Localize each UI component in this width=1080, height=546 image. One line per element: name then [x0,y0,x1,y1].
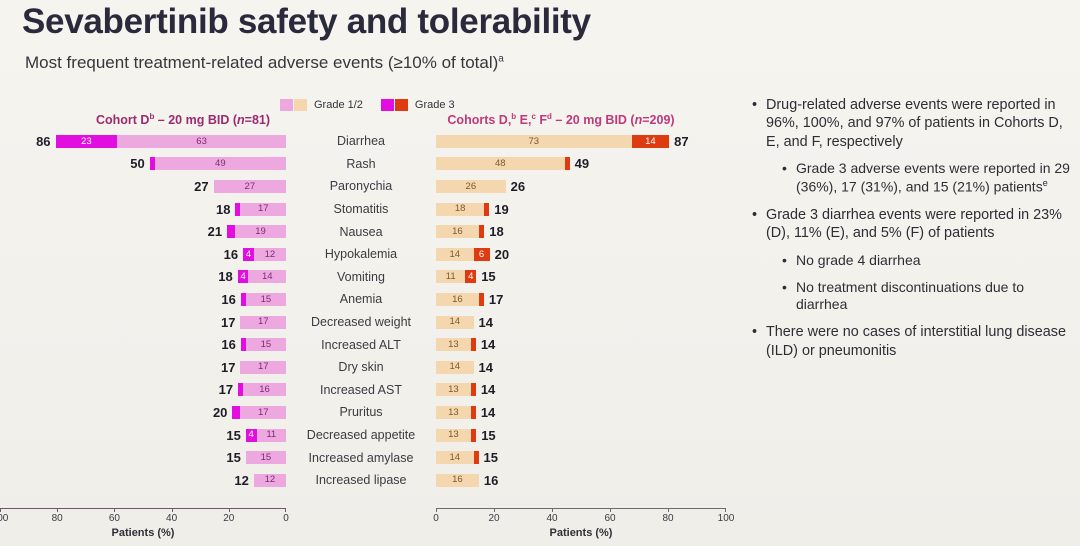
chart-rows: 862363Diarrhea7314875049Rash48492727Paro… [0,130,740,492]
right-row-bar: 16 [436,293,484,306]
chart-row: 1615Increased ALT1314 [0,333,740,356]
left-bar-grade12: 14 [248,270,286,283]
right-bar-grade12-value: 16 [452,295,463,305]
adverse-event-label: Decreased appetite [286,428,436,442]
left-bar-grade12: 17 [240,203,286,216]
right-bar-grade12-value: 73 [529,137,540,147]
left-row-bar: 49 [150,157,286,170]
left-bar-grade12-value: 27 [245,182,256,192]
right-panel-header-rest: – 20 mg BID ( [552,113,635,127]
chart-row: 5049Rash4849 [0,153,740,176]
right-row-bar: 146 [436,248,490,261]
right-bar-grade3-value: 14 [645,137,656,147]
right-row-total: 18 [489,224,503,239]
right-row: 1617 [436,288,726,311]
adverse-event-label: Hypokalemia [286,247,436,261]
right-row: 4849 [436,153,726,176]
left-row: 1717 [0,356,286,379]
axis-tick-label: 20 [488,513,499,524]
right-axis: Patients (%) 020406080100 [436,508,726,542]
left-row-total: 18 [218,269,232,284]
right-bar-grade12: 13 [436,383,471,396]
left-row-total: 17 [221,315,235,330]
left-bar-grade12-value: 14 [262,272,273,282]
chart-row: 1717Decreased weight1414 [0,311,740,334]
right-bar-grade12: 16 [436,474,479,487]
left-bar-grade12-value: 17 [258,317,269,327]
left-row-total: 27 [194,179,208,194]
right-row-bar: 114 [436,270,476,283]
note-text: Drug-related adverse events were reporte… [766,96,1072,151]
left-bar-grade12: 12 [254,474,286,487]
left-row-bar: 17 [240,361,286,374]
right-row-bar: 14 [436,316,474,329]
page-subtitle: Most frequent treatment-related adverse … [25,53,504,73]
bullet-dot-icon: • [752,323,766,360]
right-row: 1414 [436,311,726,334]
right-row: 11415 [436,266,726,289]
chart-row: 1716Increased AST1314 [0,379,740,402]
subtitle-footnote-marker: a [498,53,504,64]
left-bar-grade12-value: 12 [265,250,276,260]
left-panel-header-n: n [237,113,245,127]
right-row: 731487 [436,130,726,153]
right-row-total: 49 [575,156,589,171]
right-bar-grade12-value: 13 [448,385,459,395]
left-bar-grade12-value: 15 [261,340,272,350]
left-bar-grade12-value: 16 [259,385,270,395]
right-bar-grade12: 73 [436,135,632,148]
slide: Sevabertinib safety and tolerability Mos… [0,0,1080,546]
right-bar-grade12-value: 18 [455,204,466,214]
right-row-total: 17 [489,292,503,307]
left-row: 5049 [0,153,286,176]
axis-tick [172,508,173,512]
left-row: 1716 [0,379,286,402]
left-row: 1817 [0,198,286,221]
axis-tick-label: 0 [433,513,439,524]
left-row-bar: 2363 [56,135,286,148]
left-bar-grade3: 4 [243,248,254,261]
axis-tick [552,508,553,512]
notes-panel: •Drug-related adverse events were report… [752,96,1072,369]
right-row-bar: 13 [436,406,476,419]
right-bar-grade12-value: 14 [449,453,460,463]
right-panel-header-mid1: E, [516,113,531,127]
right-bar-grade3: 6 [474,248,490,261]
right-bar-grade3 [565,157,570,170]
note-text: No grade 4 diarrhea [796,252,1072,270]
right-bar-grade3 [471,406,476,419]
axis-tick-label: 20 [223,513,234,524]
left-axis: Patients (%) 100806040200 [0,508,286,542]
right-bar-grade3-value: 4 [468,272,473,282]
left-row-total: 16 [224,247,238,262]
right-row-total: 14 [479,360,493,375]
adverse-event-label: Nausea [286,225,436,239]
left-row: 16412 [0,243,286,266]
axis-tick [610,508,611,512]
left-bar-grade12: 63 [117,135,286,148]
chart-row: 1212Increased lipase1616 [0,469,740,492]
right-axis-line [436,508,726,509]
left-row: 1515 [0,446,286,469]
left-bar-grade12: 27 [214,180,286,193]
right-bar-grade12-value: 48 [495,159,506,169]
chart-row: 1717Dry skin1414 [0,356,740,379]
axis-tick-label: 60 [109,513,120,524]
right-bar-grade12-value: 13 [448,340,459,350]
axis-tick [229,508,230,512]
right-row-total: 14 [481,382,495,397]
right-row-bar: 14 [436,451,479,464]
right-row-total: 19 [494,202,508,217]
right-row-bar: 13 [436,338,476,351]
bullet-dot-icon: • [752,96,766,151]
left-row: 2017 [0,401,286,424]
right-bar-grade12: 13 [436,406,471,419]
right-panel-header-main: Cohorts D, [447,113,511,127]
left-bar-grade3: 23 [56,135,118,148]
left-bar-grade12: 19 [235,225,286,238]
left-bar-grade12-value: 17 [258,204,269,214]
left-bar-grade3 [232,406,240,419]
left-bar-grade12: 17 [240,316,286,329]
right-bar-grade3 [471,429,476,442]
left-row-bar: 17 [232,406,286,419]
right-panel-header-mid2: F [536,113,547,127]
right-row-bar: 26 [436,180,506,193]
axis-tick [494,508,495,512]
axis-tick-label: 40 [546,513,557,524]
left-bar-grade12-value: 12 [265,475,276,485]
right-bar-grade12: 48 [436,157,565,170]
left-axis-line [0,508,286,509]
chart-row: 2727Paronychia2626 [0,175,740,198]
right-bar-grade3: 14 [632,135,670,148]
axis-tick-label: 80 [52,513,63,524]
axis-tick [725,508,726,512]
adverse-event-label: Dry skin [286,360,436,374]
chart-row: 1615Anemia1617 [0,288,740,311]
right-bar-grade12-value: 14 [449,317,460,327]
right-row-bar: 13 [436,429,476,442]
axis-tick-label: 100 [0,513,8,524]
right-bar-grade12: 13 [436,429,471,442]
left-panel-header-n-rest: =81) [245,113,270,127]
bullet-dot-icon: • [782,160,796,196]
adverse-event-label: Increased amylase [286,451,436,465]
right-bar-grade12: 14 [436,248,474,261]
left-row-total: 17 [219,382,233,397]
right-row-total: 15 [484,450,498,465]
right-bar-grade3 [471,383,476,396]
axis-tick [436,508,437,512]
note-text: Grade 3 diarrhea events were reported in… [766,206,1072,243]
left-bar-grade12-value: 17 [258,408,269,418]
right-bar-grade12: 18 [436,203,484,216]
right-row: 1414 [436,356,726,379]
left-bar-grade3-value: 4 [249,430,254,440]
page-title: Sevabertinib safety and tolerability [22,2,591,42]
left-row-total: 86 [36,134,50,149]
right-bar-grade12-value: 11 [446,272,456,282]
left-bar-grade12-value: 17 [258,362,269,372]
left-bar-grade3: 4 [238,270,249,283]
left-row-total: 20 [213,405,227,420]
right-bar-grade12: 16 [436,293,479,306]
right-bar-grade12-value: 13 [448,430,459,440]
bullet-dot-icon: • [782,279,796,315]
left-bar-grade12: 15 [246,451,286,464]
left-bar-grade12: 12 [254,248,286,261]
right-bar-grade12: 13 [436,338,471,351]
axis-tick [285,508,286,512]
right-bar-grade12: 16 [436,225,479,238]
left-row: 1212 [0,469,286,492]
right-bar-grade12-value: 14 [449,250,460,260]
right-row-total: 14 [479,315,493,330]
note-bullet: •No grade 4 diarrhea [782,252,1072,270]
right-row: 1314 [436,379,726,402]
right-panel-header-n-rest: =209) [642,113,674,127]
left-row-bar: 27 [214,180,286,193]
right-bar-grade12: 11 [436,270,465,283]
adverse-event-label: Decreased weight [286,315,436,329]
right-axis-label: Patients (%) [436,527,726,539]
left-row-total: 16 [221,337,235,352]
left-bar-grade3-value: 4 [240,272,245,282]
chart-row: 2119Nausea1618 [0,220,740,243]
chart-area: Cohort Db – 20 mg BID (n=81) Cohorts D,b… [0,110,740,546]
axis-tick [114,508,115,512]
left-bar-grade12-value: 11 [266,430,276,440]
left-row-total: 15 [226,428,240,443]
right-bar-grade3-value: 6 [479,250,484,260]
right-bar-grade3: 4 [465,270,476,283]
left-row-total: 18 [216,202,230,217]
right-row-total: 26 [511,179,525,194]
axis-tick-label: 100 [718,513,735,524]
note-bullet: •Grade 3 diarrhea events were reported i… [752,206,1072,243]
left-bar-grade12-value: 19 [255,227,266,237]
note-text: No treatment discontinuations due to dia… [796,279,1072,315]
left-bar-grade12-value: 63 [196,137,207,147]
right-bar-grade3 [474,451,479,464]
left-axis-label: Patients (%) [0,527,286,539]
chart-row: 862363Diarrhea731487 [0,130,740,153]
left-bar-grade12-value: 15 [261,453,272,463]
left-row: 15411 [0,424,286,447]
left-row-bar: 12 [254,474,286,487]
adverse-event-label: Paronychia [286,179,436,193]
chart-row: 1515Increased amylase1415 [0,446,740,469]
left-row-bar: 19 [227,225,286,238]
adverse-event-label: Vomiting [286,270,436,284]
right-bar-grade12-value: 26 [466,182,477,192]
right-panel-header: Cohorts D,b E,c Fd – 20 mg BID (n=209) [432,112,690,127]
adverse-event-label: Increased ALT [286,338,436,352]
axis-tick [57,508,58,512]
right-bar-grade12: 14 [436,361,474,374]
adverse-event-label: Stomatitis [286,202,436,216]
right-bar-grade12-value: 13 [448,408,459,418]
right-bar-grade12-value: 16 [452,475,463,485]
left-row-total: 50 [130,156,144,171]
note-bullet: •Grade 3 adverse events were reported in… [782,160,1072,196]
left-row: 2727 [0,175,286,198]
left-row-bar: 412 [243,248,286,261]
left-row: 862363 [0,130,286,153]
left-bar-grade3-value: 4 [246,250,251,260]
right-row-total: 14 [481,405,495,420]
left-panel-header-main: Cohort D [96,113,149,127]
left-bar-grade12: 17 [240,361,286,374]
left-row: 2119 [0,220,286,243]
right-row: 1415 [436,446,726,469]
adverse-event-label: Increased AST [286,383,436,397]
left-row-total: 12 [234,473,248,488]
right-row: 1315 [436,424,726,447]
right-bar-grade12: 26 [436,180,506,193]
right-row: 14620 [436,243,726,266]
left-bar-grade12: 17 [240,406,286,419]
adverse-event-label: Pruritus [286,405,436,419]
right-row-bar: 16 [436,474,479,487]
left-panel-header: Cohort Db – 20 mg BID (n=81) [72,112,294,127]
right-bar-grade12-value: 16 [452,227,463,237]
right-row-total: 16 [484,473,498,488]
left-row: 18414 [0,266,286,289]
axis-tick [668,508,669,512]
right-bar-grade3 [471,338,476,351]
left-bar-grade12: 15 [246,338,286,351]
left-row-bar: 16 [238,383,286,396]
chart-row: 16412Hypokalemia14620 [0,243,740,266]
note-bullet: •No treatment discontinuations due to di… [782,279,1072,315]
adverse-event-label: Rash [286,157,436,171]
right-row: 1819 [436,198,726,221]
adverse-event-label: Increased lipase [286,473,436,487]
right-row: 2626 [436,175,726,198]
right-row-total: 15 [481,269,495,284]
axis-tick-label: 60 [604,513,615,524]
left-row-total: 16 [221,292,235,307]
right-row: 1616 [436,469,726,492]
left-bar-grade12: 16 [243,383,286,396]
right-bar-grade12: 14 [436,316,474,329]
note-bullet: •There were no cases of interstitial lun… [752,323,1072,360]
right-row: 1314 [436,401,726,424]
left-row-bar: 411 [246,429,286,442]
adverse-event-label: Diarrhea [286,134,436,148]
left-bar-grade3 [227,225,235,238]
axis-tick-label: 40 [166,513,177,524]
right-row-bar: 16 [436,225,484,238]
left-row-bar: 15 [246,451,286,464]
chart-row: 2017Pruritus1314 [0,401,740,424]
chart-row: 18414Vomiting11415 [0,266,740,289]
right-row-bar: 14 [436,361,474,374]
right-row-bar: 48 [436,157,570,170]
left-row-total: 17 [221,360,235,375]
right-bar-grade3 [479,293,484,306]
right-bar-grade12-value: 14 [449,362,460,372]
right-row: 1618 [436,220,726,243]
right-row-bar: 18 [436,203,489,216]
chart-row: 15411Decreased appetite1315 [0,424,740,447]
left-bar-grade3-value: 23 [81,137,92,147]
right-row-bar: 7314 [436,135,669,148]
left-row-bar: 15 [241,338,286,351]
left-bar-grade3: 4 [246,429,257,442]
right-row-total: 15 [481,428,495,443]
left-bar-grade12: 15 [246,293,286,306]
right-row-bar: 13 [436,383,476,396]
bullet-dot-icon: • [752,206,766,243]
right-bar-grade3 [484,203,489,216]
left-row: 1615 [0,333,286,356]
bullet-dot-icon: • [782,252,796,270]
left-panel-header-rest: – 20 mg BID ( [154,113,237,127]
left-bar-grade12-value: 15 [261,295,272,305]
right-row-total: 20 [495,247,509,262]
left-row-bar: 17 [240,316,286,329]
left-bar-grade12: 11 [257,429,286,442]
chart-row: 1817Stomatitis1819 [0,198,740,221]
note-text: There were no cases of interstitial lung… [766,323,1072,360]
right-row-total: 87 [674,134,688,149]
note-bullet: •Drug-related adverse events were report… [752,96,1072,151]
left-row: 1717 [0,311,286,334]
left-row: 1615 [0,288,286,311]
right-row-total: 14 [481,337,495,352]
note-footnote-marker: e [1043,178,1048,188]
left-row-bar: 17 [235,203,286,216]
axis-tick [0,508,1,512]
axis-tick-label: 80 [662,513,673,524]
axis-tick-label: 0 [283,513,289,524]
right-bar-grade12: 14 [436,451,474,464]
right-bar-grade3 [479,225,484,238]
left-row-bar: 15 [241,293,286,306]
left-bar-grade12: 49 [155,157,286,170]
subtitle-text: Most frequent treatment-related adverse … [25,53,498,72]
right-row: 1314 [436,333,726,356]
adverse-event-label: Anemia [286,292,436,306]
note-text: Grade 3 adverse events were reported in … [796,160,1072,196]
left-row-total: 15 [226,450,240,465]
left-row-total: 21 [208,224,222,239]
left-bar-grade12-value: 49 [215,159,226,169]
left-row-bar: 414 [238,270,286,283]
